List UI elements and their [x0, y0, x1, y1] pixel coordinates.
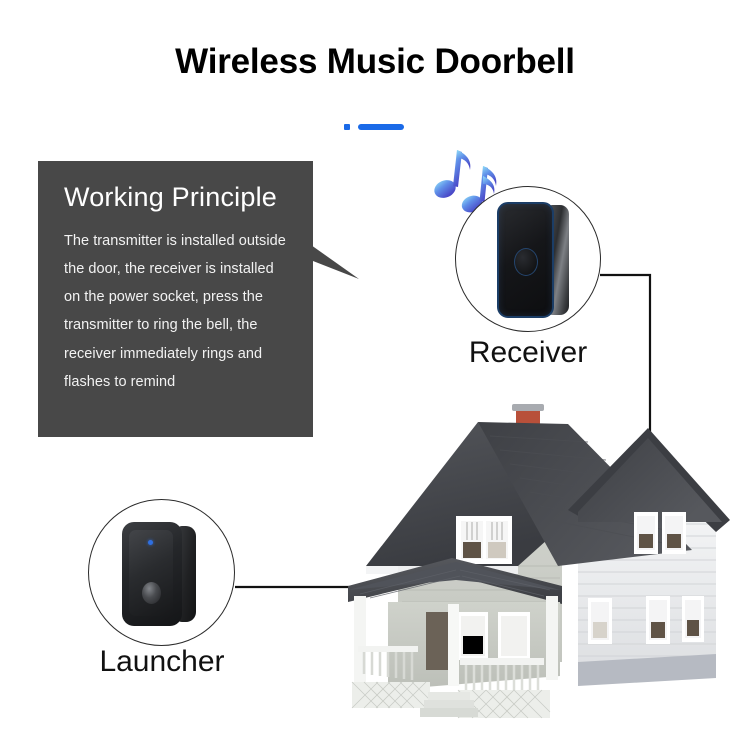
launcher-label: Launcher — [77, 645, 247, 679]
callout-tail-icon — [311, 243, 361, 283]
porch-column-mid — [448, 604, 459, 686]
porch-rail-left-top — [358, 646, 418, 652]
porch-window-a-sash — [463, 636, 483, 654]
porch-step-1 — [428, 692, 470, 700]
porch-step-3 — [420, 708, 478, 717]
front-door — [426, 612, 448, 670]
porch-balusters-left — [364, 652, 412, 680]
house-illustration — [330, 390, 750, 720]
accent-bar-icon — [358, 124, 404, 130]
window-lower-c-sash — [687, 620, 699, 636]
porch-column-right — [546, 596, 558, 680]
infographic-page: Wireless Music Doorbell Working Principl… — [0, 0, 750, 750]
launcher-body — [122, 522, 182, 626]
window-gable-sash-l — [463, 542, 481, 558]
window-gable-sash-r — [488, 542, 506, 558]
launcher-led-icon — [148, 540, 153, 545]
launcher-button-icon — [142, 582, 161, 604]
callout-heading: Working Principle — [64, 183, 289, 213]
lattice-left — [352, 682, 430, 708]
receiver-label: Receiver — [443, 336, 613, 370]
porch-step-2 — [424, 700, 474, 708]
porch-window-b-pane — [501, 616, 527, 656]
page-title: Wireless Music Doorbell — [0, 42, 750, 82]
receiver-device-image — [497, 202, 569, 318]
window-upper-a-sash — [639, 534, 653, 548]
accent-dot-icon — [344, 124, 350, 130]
receiver-button-icon — [514, 248, 538, 276]
porch-rail-right-top — [460, 658, 544, 665]
receiver-front-face — [497, 202, 554, 318]
working-principle-callout: Working Principle The transmitter is ins… — [38, 161, 313, 437]
title-accent — [344, 123, 404, 131]
window-upper-b-sash — [667, 534, 681, 548]
window-lower-b-sash — [651, 622, 665, 638]
launcher-device-image — [122, 522, 196, 626]
chimney-cap — [512, 404, 544, 411]
callout-body-text: The transmitter is installed outside the… — [64, 227, 289, 397]
window-lower-a-sash — [593, 622, 607, 638]
